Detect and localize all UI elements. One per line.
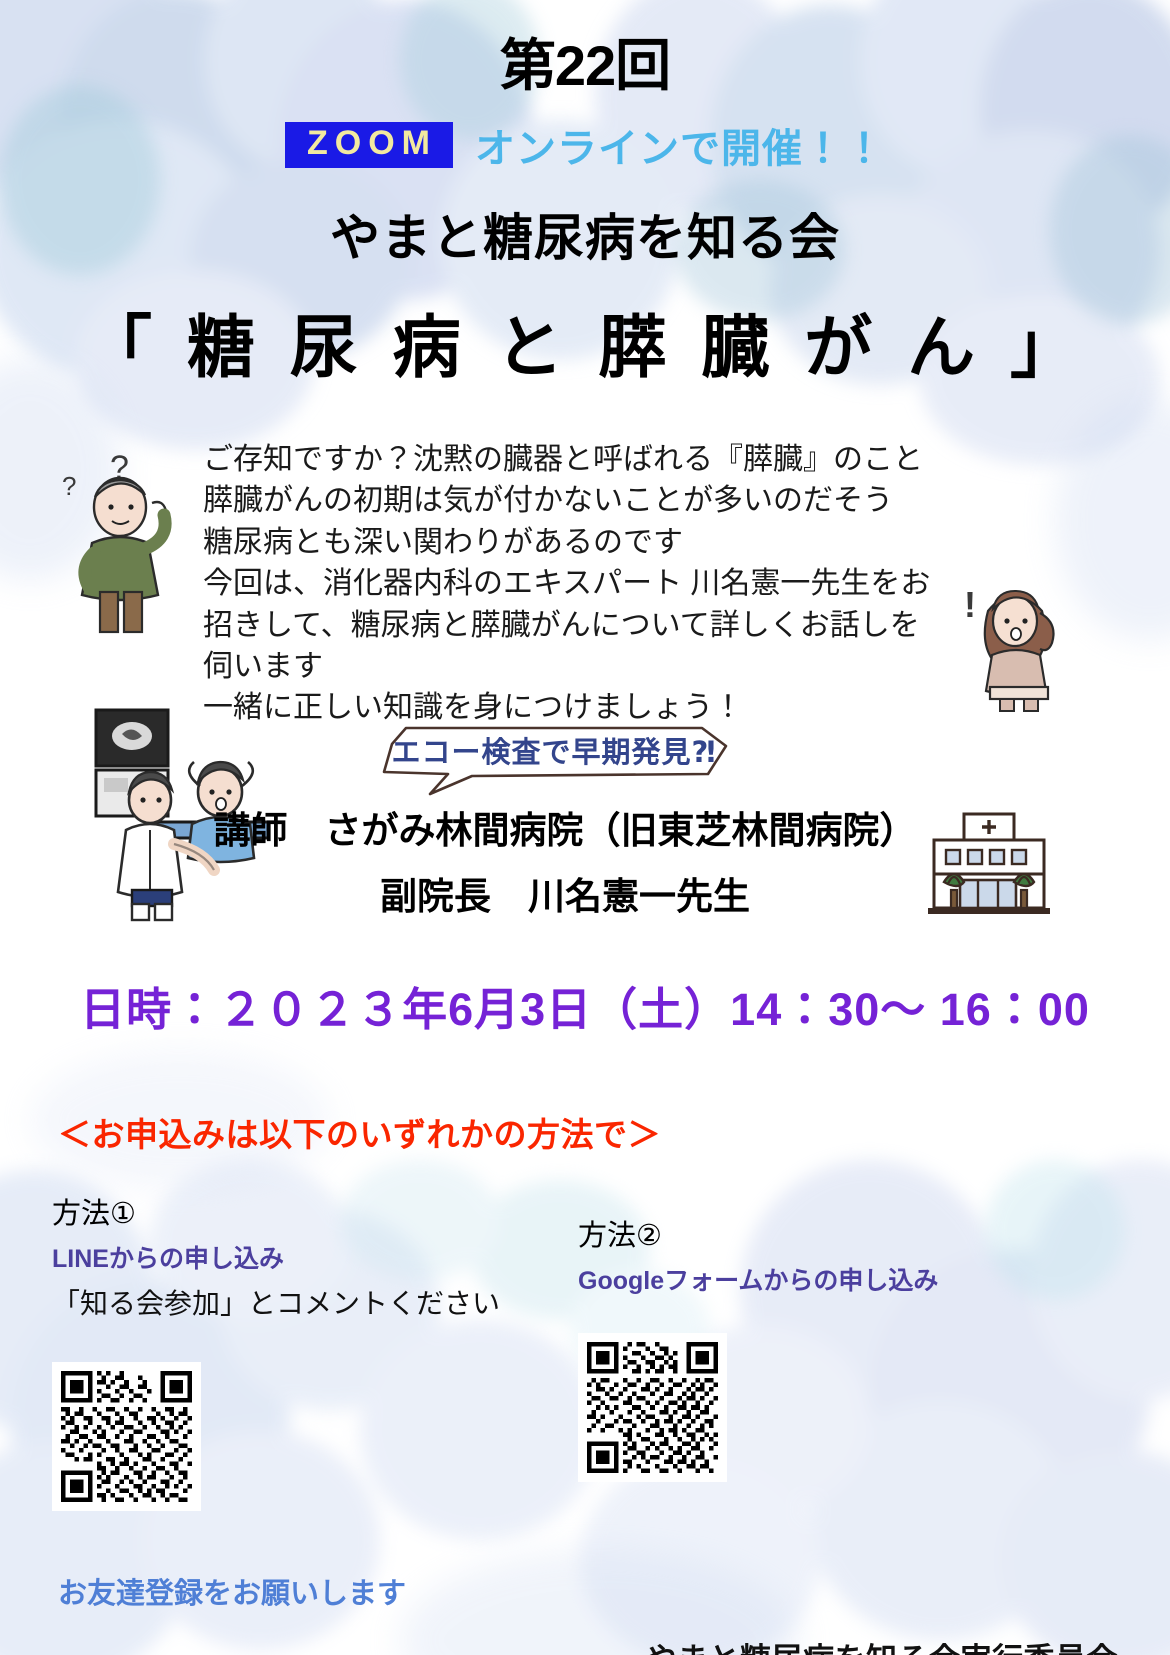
- speech-bubble: エコー検査で早期発見⁈: [378, 724, 730, 784]
- intro-section: ? ? ご存知ですか？沈黙の臓器と呼ばれる『膵臓』のこと 膵臓がんの: [0, 439, 1170, 704]
- application-heading: ＜お申込みは以下のいずれかの方法で＞: [58, 1108, 1170, 1156]
- online-text: オンラインで開催！！: [475, 116, 885, 174]
- method-1-label: 方法①: [52, 1190, 552, 1232]
- application-methods: 方法① LINEからの申し込み 「知る会参加」とコメントください: [0, 1190, 1170, 1570]
- friend-registration-note: お友達登録をお願いします: [58, 1570, 1170, 1612]
- method-1: 方法① LINEからの申し込み 「知る会参加」とコメントください: [52, 1190, 552, 1511]
- page-title: 「 糖 尿 病 と 膵 臓 が ん 」: [0, 292, 1170, 391]
- qr-code-google[interactable]: [578, 1333, 727, 1482]
- surprised-woman-illustration: !: [960, 569, 1080, 714]
- organizer: やまと糖尿病を知る会実行委員会: [0, 1634, 1118, 1655]
- method-2-subtitle: Googleフォームからの申し込み: [578, 1261, 1078, 1297]
- method-1-subtitle: LINEからの申し込み: [52, 1239, 552, 1275]
- thinking-man-illustration: ? ?: [48, 449, 198, 639]
- date-time: 日時：２０２３年6月3日（土）14：30〜 16：00: [0, 973, 1170, 1038]
- zoom-online-row: ZOOM オンラインで開催！！: [0, 116, 1170, 174]
- method-2-label: 方法②: [578, 1212, 1078, 1254]
- lecturer-section: エコー検査で早期発見⁈ 講師 さがみ林間病院（旧東芝林間病院） 副院長 川名憲一…: [0, 704, 1170, 969]
- method-1-note: 「知る会参加」とコメントください: [52, 1282, 552, 1322]
- qr-code-line[interactable]: [52, 1362, 201, 1511]
- poster-canvas: 第22回 ZOOM オンラインで開催！！ やまと糖尿病を知る会 「 糖 尿 病 …: [0, 0, 1170, 1655]
- zoom-badge: ZOOM: [285, 122, 453, 168]
- bubble-text: エコー検査で早期発見⁈: [378, 724, 730, 776]
- svg-text:!: !: [964, 584, 976, 625]
- method-2: 方法② Googleフォームからの申し込み: [578, 1212, 1078, 1482]
- intro-paragraph: ご存知ですか？沈黙の臓器と呼ばれる『膵臓』のこと 膵臓がんの初期は気が付かないこ…: [203, 439, 943, 729]
- svg-text:?: ?: [62, 471, 76, 501]
- edition-title: 第22回: [0, 0, 1170, 94]
- meeting-name: やまと糖尿病を知る会: [0, 198, 1170, 270]
- hospital-building-illustration: [918, 804, 1058, 934]
